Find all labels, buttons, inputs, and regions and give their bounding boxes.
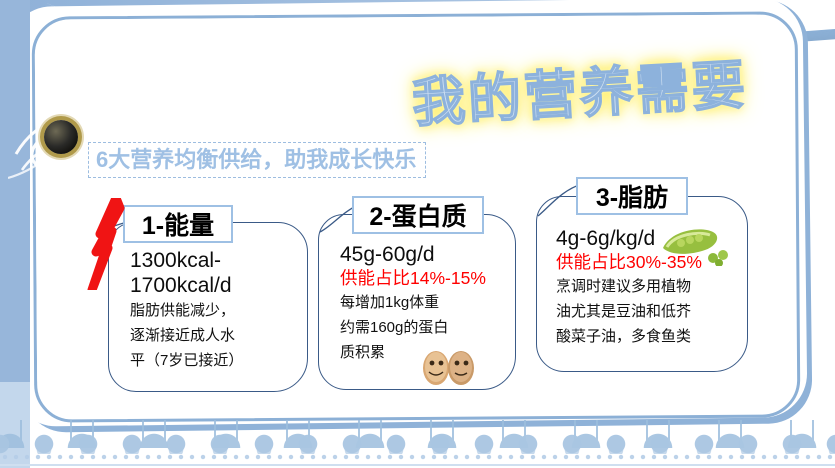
slide-canvas: 我的营养需要 6大营养均衡供给，助我成长快乐 1300kcal- 1700kca… (0, 0, 835, 468)
seal-button-decoration (44, 120, 78, 154)
callout-fat-header[interactable]: 3-脂肪 (576, 177, 688, 215)
callout-protein-note-1: 约需160g的蛋白 (340, 315, 486, 340)
callout-protein-value-0: 45g-60g/d (340, 242, 486, 267)
lace-border-bottom (0, 420, 835, 468)
callout-protein-note-0: 每增加1kg体重 (340, 290, 486, 315)
callout-protein-header[interactable]: 2-蛋白质 (352, 196, 484, 234)
callout-protein-highlight: 供能占比14%-15% (340, 267, 486, 290)
lace-scallop-pattern (0, 428, 835, 454)
callout-energy-note-2: 平（7岁已接近） (130, 348, 243, 373)
callout-energy-note-0: 脂肪供能减少， (130, 298, 243, 323)
red-lightning-arrow-icon (86, 198, 134, 290)
page-subtitle: 6大营养均衡供给，助我成长快乐 (96, 146, 426, 174)
callout-energy-value-1: 1700kcal/d (130, 273, 243, 298)
callout-energy-header[interactable]: 1-能量 (123, 205, 233, 243)
callout-energy-note-1: 逐渐接近成人水 (130, 323, 243, 348)
pea-pod-image (661, 226, 733, 266)
callout-fat[interactable]: 4g-6g/kg/d 供能占比30%-35% 烹调时建议多用植物 油尤其是豆油和… (536, 196, 748, 372)
callout-energy[interactable]: 1300kcal- 1700kcal/d 脂肪供能减少， 逐渐接近成人水 平（7… (108, 222, 308, 392)
egg-image (417, 347, 479, 387)
callout-fat-note-2: 酸菜子油，多食鱼类 (556, 324, 702, 349)
callout-fat-note-0: 烹调时建议多用植物 (556, 274, 702, 299)
callout-fat-note-1: 油尤其是豆油和低芥 (556, 299, 702, 324)
lace-baseline (0, 464, 835, 466)
callout-energy-value-0: 1300kcal- (130, 248, 243, 273)
lace-dot-pattern (0, 452, 835, 462)
